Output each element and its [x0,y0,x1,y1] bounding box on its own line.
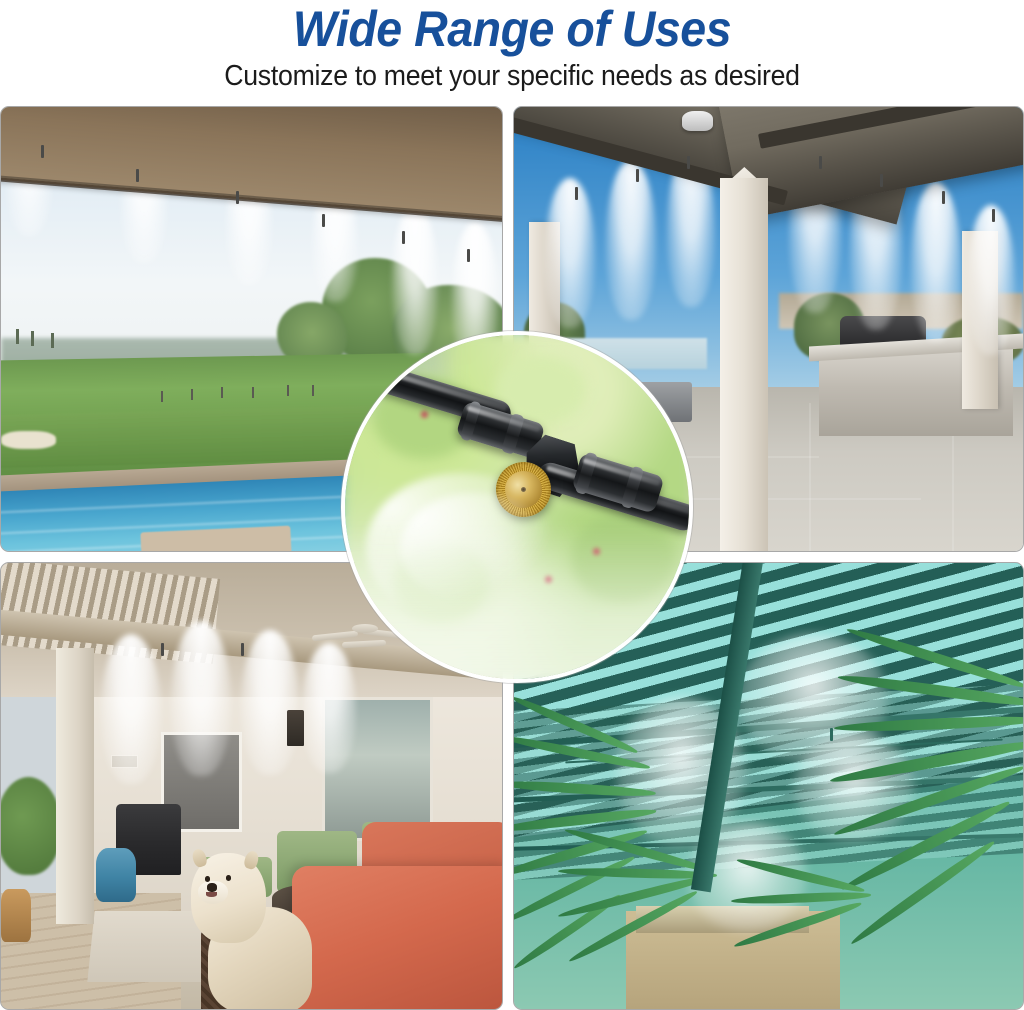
page-title: Wide Range of Uses [36,0,988,56]
support-column [56,648,94,925]
misting-nozzle [992,209,995,222]
mist-plume [606,160,656,320]
front-column [720,178,768,551]
misting-nozzle [136,169,139,182]
course-marker [252,387,254,398]
misting-nozzle [819,156,822,169]
misting-nozzle [402,231,405,244]
misting-nozzle [161,643,164,656]
terracotta-pot [1,889,31,943]
mist-plume [171,621,231,776]
misting-nozzle [942,191,945,204]
palm-tree [31,331,34,346]
mist-plume [545,178,595,328]
course-marker [287,385,289,396]
dog-nose [207,883,217,891]
blue-ceramic-pot [96,848,136,902]
misting-nozzle [322,214,325,227]
palm-tree [16,329,19,344]
page-subtitle: Customize to meet your specific needs as… [41,56,983,93]
dog-head [191,853,266,943]
dog-ear [243,850,260,871]
sand-bunker [1,431,56,449]
mist-plume [101,634,161,784]
nozzle-orifice [520,486,527,493]
product-infographic: Wide Range of Uses Customize to meet you… [0,0,1024,1010]
berry [421,411,428,418]
fern [728,840,881,1009]
course-marker [191,389,193,400]
misting-nozzle [687,156,690,169]
security-camera [682,111,713,131]
misting-nozzle [636,169,639,182]
product-closeup-inset [341,331,693,683]
dog-eye [226,875,232,880]
wall-lantern [287,710,304,746]
course-marker [312,385,314,396]
coral-cushion [292,866,502,1009]
dog-eye [205,876,211,881]
mist-plume [241,630,299,775]
misting-nozzle [41,145,44,158]
mist-plume [967,205,1015,355]
header: Wide Range of Uses Customize to meet you… [0,0,1024,104]
mist-plume [392,205,438,355]
course-marker [161,391,163,402]
mist-plume [911,182,961,342]
misting-nozzle [467,249,470,262]
dog [191,853,311,1009]
course-marker [221,387,223,398]
shrub [1,777,61,875]
misting-nozzle [575,187,578,200]
mist-spray [400,493,550,603]
palm-tree [51,333,54,348]
